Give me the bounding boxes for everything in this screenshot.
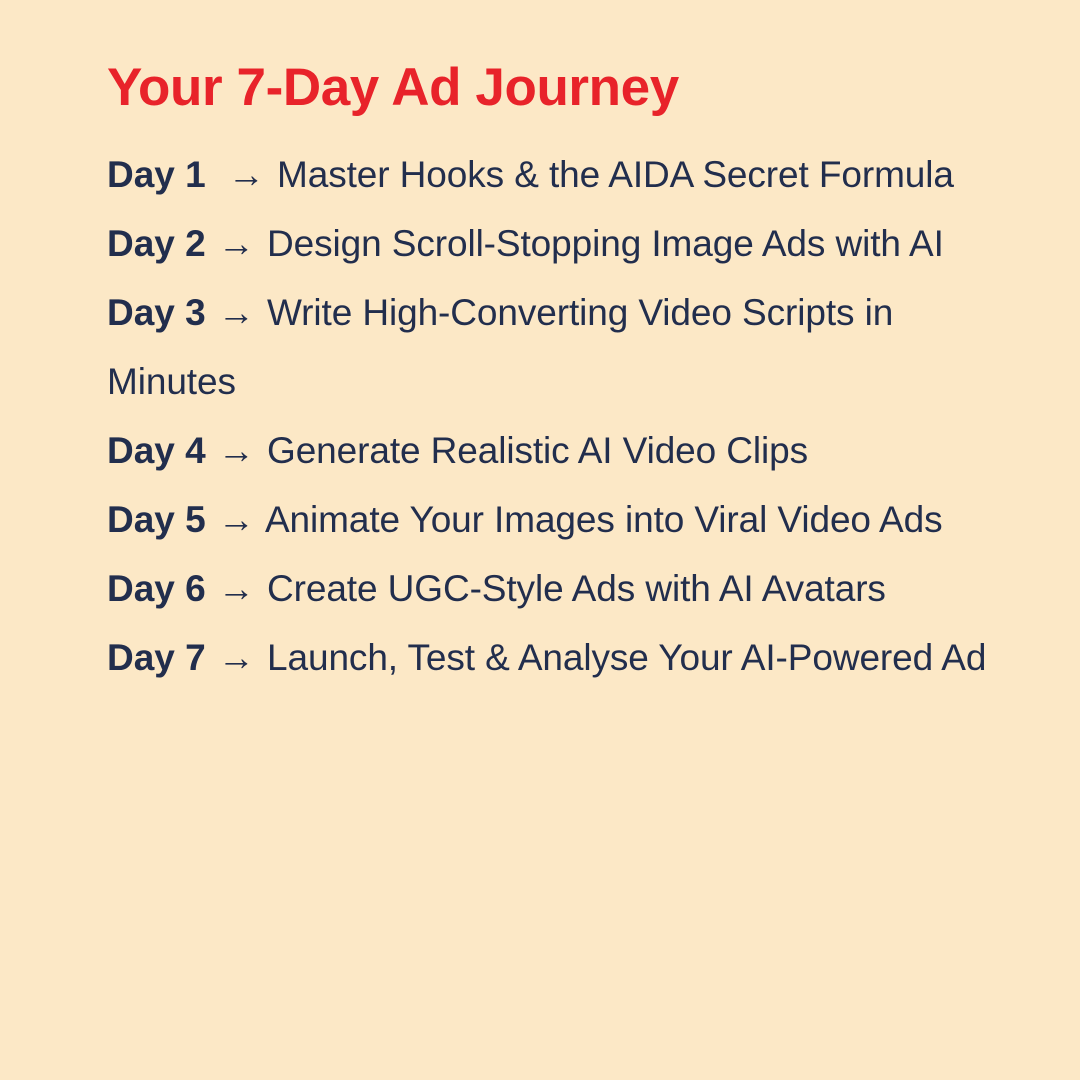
list-item-text: Launch, Test & Analyse Your AI-Powered A…	[267, 637, 986, 678]
list-item-text: Animate Your Images into Viral Video Ads	[265, 499, 943, 540]
list-item-text: Create UGC-Style Ads with AI Avatars	[267, 568, 886, 609]
day-label: Day 5	[107, 499, 206, 540]
list-item-text: Master Hooks & the AIDA Secret Formula	[277, 154, 954, 195]
list-item: Day 4 → Generate Realistic AI Video Clip…	[107, 416, 992, 485]
right-arrow-icon: →	[216, 140, 267, 209]
right-arrow-icon: →	[216, 485, 257, 554]
list-item: Day 1 → Master Hooks & the AIDA Secret F…	[107, 140, 992, 209]
right-arrow-icon: →	[216, 278, 257, 347]
day-label: Day 2	[107, 223, 206, 264]
list-item-text: Generate Realistic AI Video Clips	[267, 430, 808, 471]
right-arrow-icon: →	[216, 554, 257, 623]
right-arrow-icon: →	[216, 209, 257, 278]
list-item-text: Design Scroll-Stopping Image Ads with AI	[267, 223, 944, 264]
slide-canvas: Your 7-Day Ad Journey Day 1 → Master Hoo…	[0, 0, 1080, 1080]
day-label: Day 7	[107, 637, 206, 678]
day-label: Day 4	[107, 430, 206, 471]
journey-list: Day 1 → Master Hooks & the AIDA Secret F…	[107, 140, 992, 692]
right-arrow-icon: →	[216, 623, 257, 692]
list-item: Day 2 → Design Scroll-Stopping Image Ads…	[107, 209, 992, 278]
list-item: Day 3 → Write High-Converting Video Scri…	[107, 278, 992, 416]
day-label: Day 3	[107, 292, 206, 333]
list-item: Day 5 → Animate Your Images into Viral V…	[107, 485, 992, 554]
list-item: Day 7 → Launch, Test & Analyse Your AI-P…	[107, 623, 992, 692]
day-label: Day 1	[107, 154, 206, 195]
right-arrow-icon: →	[216, 416, 257, 485]
page-title: Your 7-Day Ad Journey	[107, 58, 1008, 119]
list-item: Day 6 → Create UGC-Style Ads with AI Ava…	[107, 554, 992, 623]
day-label: Day 6	[107, 568, 206, 609]
